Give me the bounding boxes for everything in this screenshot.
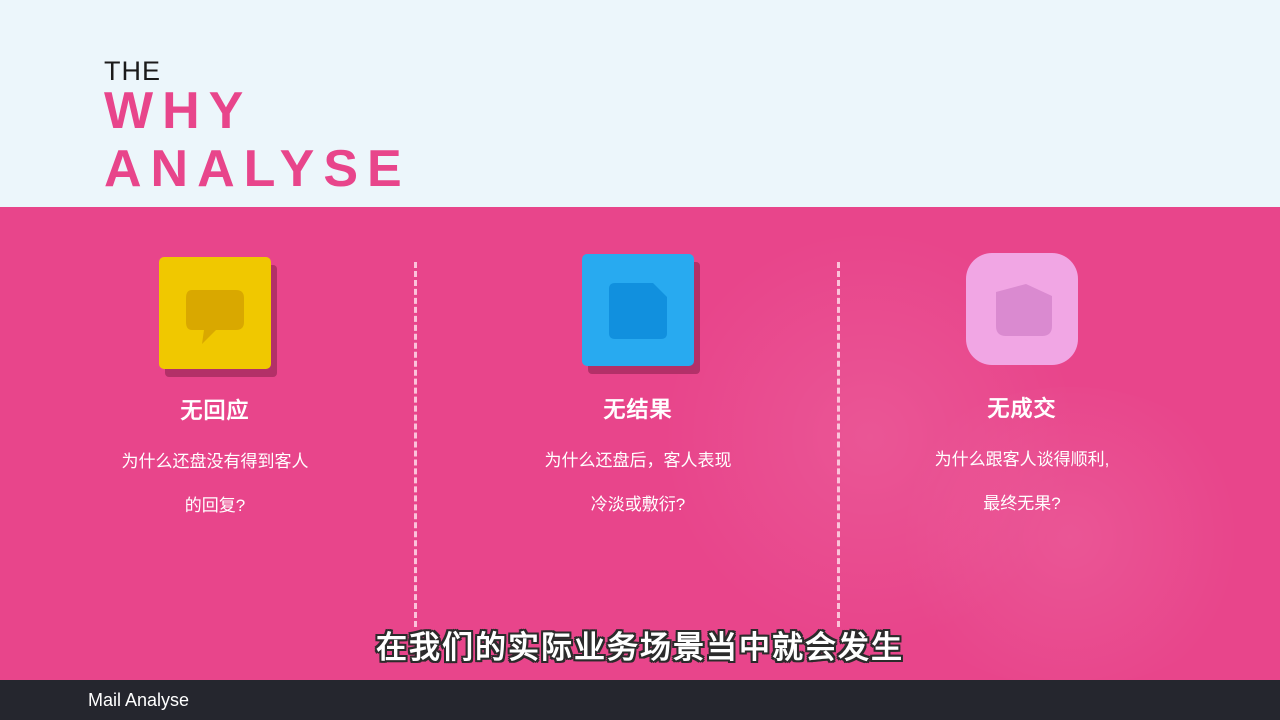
description-line: 为什么还盘没有得到客人: [5, 440, 425, 484]
description-line: 的回复?: [5, 484, 425, 528]
pink-rounded-square-icon: [966, 253, 1078, 365]
column-title: 无成交: [812, 391, 1232, 423]
speech-bubble-glyph: [183, 282, 247, 344]
reason-column-3: 无成交 为什么跟客人谈得顺利, 最终无果?: [812, 207, 1232, 526]
blue-square-icon: [582, 254, 694, 366]
header-eyebrow: THE: [104, 58, 161, 85]
icon-wrapper: [159, 257, 271, 369]
reason-column-2: 无结果 为什么还盘后，客人表现 冷淡或敷衍?: [428, 207, 848, 527]
presentation-slide: THE WHY ANALYSE 无回应 为什么还盘没有得到客人 的回复?: [0, 0, 1280, 720]
column-description: 为什么还盘没有得到客人 的回复?: [5, 440, 425, 528]
header-title-line2: ANALYSE: [104, 142, 411, 197]
video-subtitle: 在我们的实际业务场景当中就会发生: [0, 622, 1280, 667]
header-title-line1: WHY: [104, 84, 252, 139]
document-glyph: [606, 279, 670, 341]
description-line: 最终无果?: [812, 482, 1232, 526]
reason-column-1: 无回应 为什么还盘没有得到客人 的回复?: [5, 207, 425, 528]
description-line: 为什么还盘后，客人表现: [428, 439, 848, 483]
column-title: 无结果: [428, 392, 848, 424]
column-description: 为什么跟客人谈得顺利, 最终无果?: [812, 438, 1232, 526]
slide-header: THE WHY ANALYSE: [0, 0, 1280, 207]
icon-wrapper: [582, 254, 694, 366]
column-description: 为什么还盘后，客人表现 冷淡或敷衍?: [428, 439, 848, 527]
bottom-bar-label: Mail Analyse: [88, 690, 189, 711]
column-title: 无回应: [5, 393, 425, 425]
description-line: 为什么跟客人谈得顺利,: [812, 438, 1232, 482]
yellow-square-icon: [159, 257, 271, 369]
icon-wrapper: [966, 253, 1078, 365]
slide-body: 无回应 为什么还盘没有得到客人 的回复? 无结果 为什么还盘后，客人表现 冷淡或…: [0, 207, 1280, 680]
bottom-bar: Mail Analyse: [0, 680, 1280, 720]
description-line: 冷淡或敷衍?: [428, 483, 848, 527]
handshake-glyph: [990, 278, 1054, 340]
